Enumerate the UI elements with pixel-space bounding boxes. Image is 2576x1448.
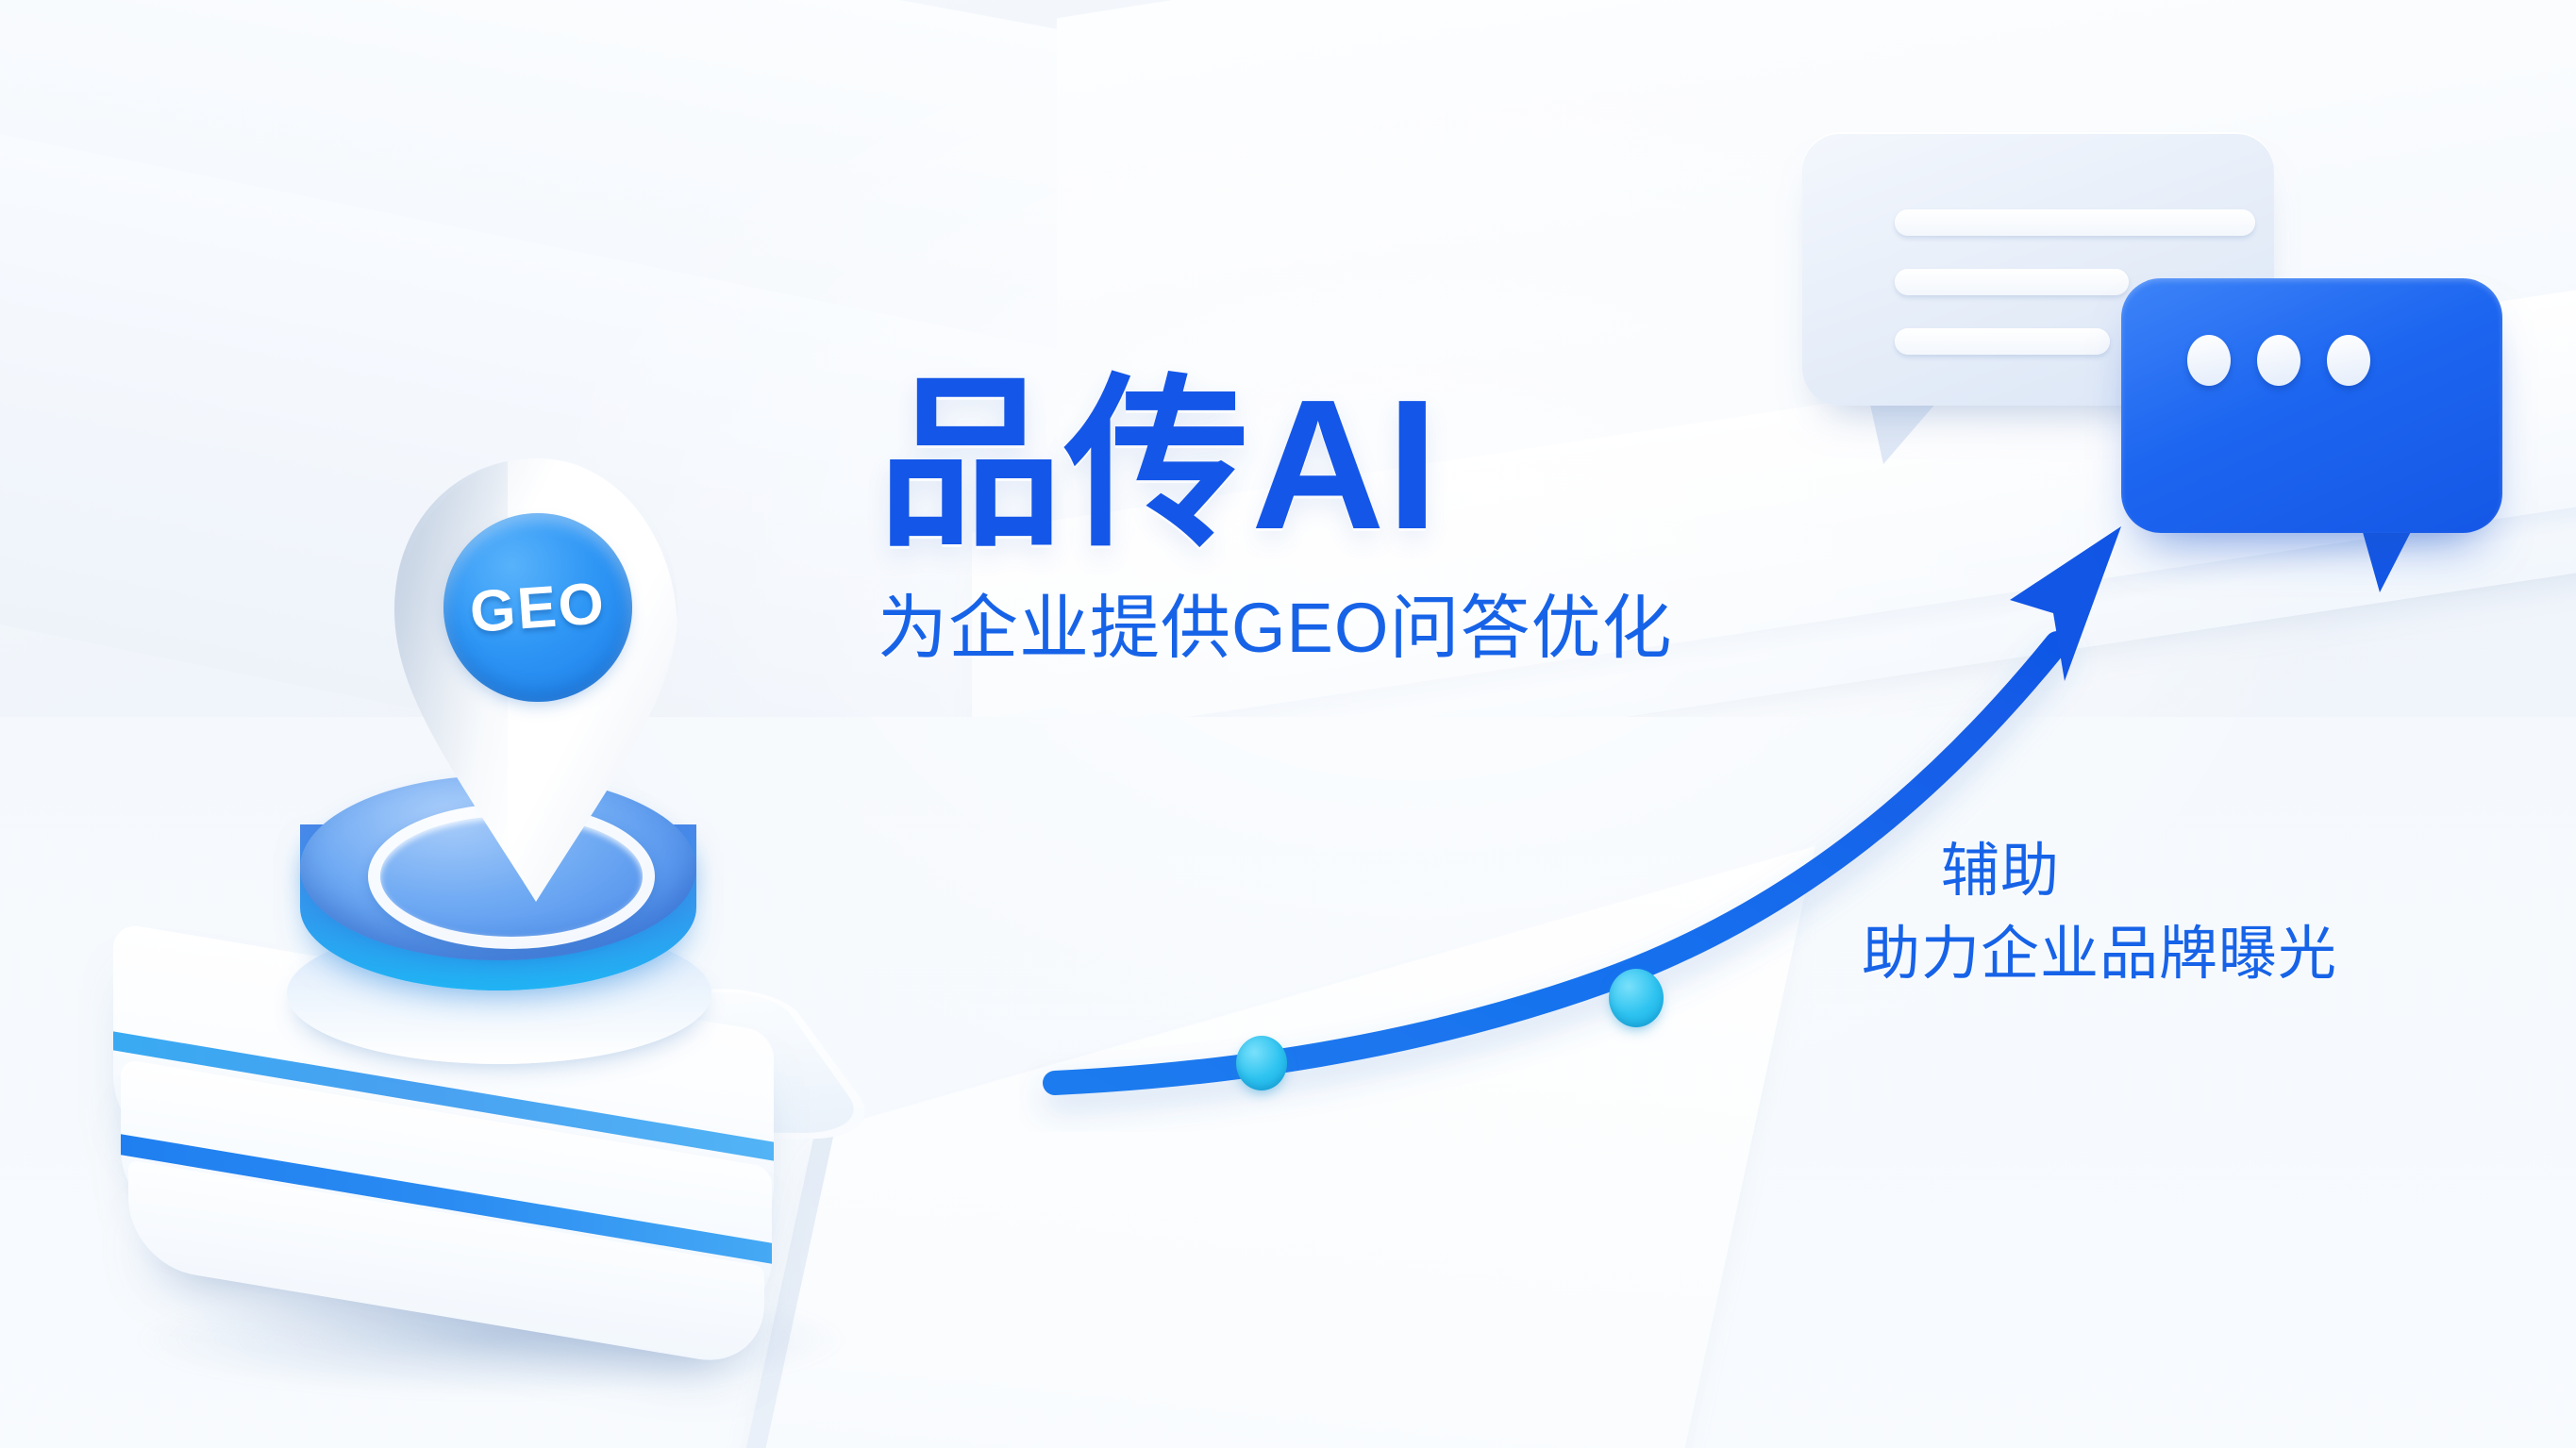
typing-dot-2 bbox=[2257, 335, 2300, 386]
bubble-text-line-3 bbox=[1895, 328, 2110, 355]
promo-banner: GEO 品传AI 为企业提供GEO问答优化 bbox=[0, 0, 2576, 1448]
growth-marker-dot-2 bbox=[1609, 969, 1664, 1027]
caption-line-1: 辅助 bbox=[1788, 830, 2411, 913]
blue-chat-bubble-icon bbox=[2121, 278, 2502, 533]
map-pin-disc: GEO bbox=[443, 513, 632, 702]
white-bubble-tail bbox=[1868, 396, 1942, 464]
geo-pin-illustration: GEO bbox=[142, 443, 991, 1255]
bubble-text-line-1 bbox=[1895, 209, 2255, 236]
bubble-text-line-2 bbox=[1895, 269, 2129, 295]
geo-label: GEO bbox=[468, 570, 608, 646]
caption-block: 辅助 助力企业品牌曝光 bbox=[1788, 830, 2411, 996]
growth-marker-dot-1 bbox=[1236, 1036, 1287, 1090]
caption-line-2: 助力企业品牌曝光 bbox=[1788, 913, 2411, 996]
map-pin-icon: GEO bbox=[394, 458, 677, 902]
typing-dot-1 bbox=[2187, 335, 2231, 386]
typing-dot-3 bbox=[2327, 335, 2370, 386]
chat-bubbles-illustration bbox=[1774, 113, 2491, 604]
